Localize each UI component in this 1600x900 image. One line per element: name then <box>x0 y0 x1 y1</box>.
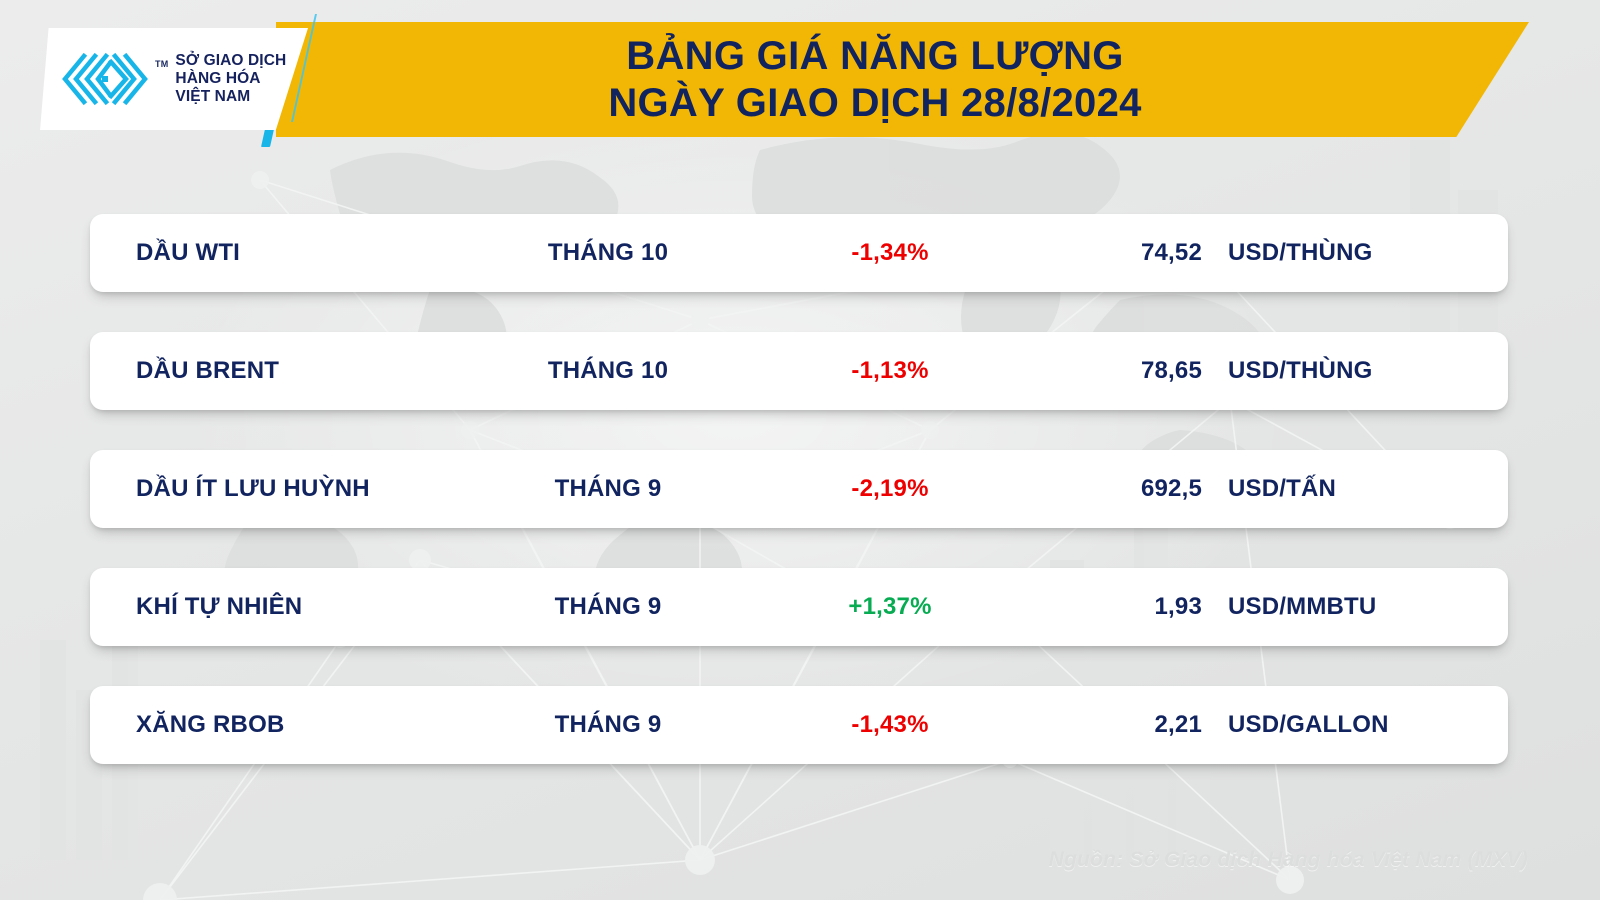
change-percent: -1,13% <box>790 357 990 385</box>
price-value: 692,5 <box>1020 475 1202 503</box>
contract-month: THÁNG 9 <box>498 475 718 503</box>
logo-wordmark: SỞ GIAO DỊCH HÀNG HÓA VIỆT NAM <box>175 52 286 106</box>
source-caption: Nguồn: Sở Giao dịch Hàng hóa Việt Nam (M… <box>1049 848 1528 872</box>
contract-month: THÁNG 9 <box>498 711 718 739</box>
page-title: BẢNG GIÁ NĂNG LƯỢNG NGÀY GIAO DỊCH 28/8/… <box>300 26 1450 134</box>
logo-line-3: VIỆT NAM <box>175 88 286 106</box>
logo-line-1: SỞ GIAO DỊCH <box>175 52 286 70</box>
commodity-name: KHÍ TỰ NHIÊN <box>136 593 302 621</box>
table-row[interactable]: DẦU BRENT THÁNG 10 -1,13% 78,65 USD/THÙN… <box>90 332 1508 410</box>
price-value: 1,93 <box>1020 593 1202 621</box>
price-table: DẦU WTI THÁNG 10 -1,34% 74,52 USD/THÙNG … <box>90 214 1510 764</box>
contract-month: THÁNG 10 <box>498 357 718 385</box>
price-value: 78,65 <box>1020 357 1202 385</box>
poster-canvas: TM SỞ GIAO DỊCH HÀNG HÓA VIỆT NAM BẢNG G… <box>0 0 1600 900</box>
table-row[interactable]: DẦU WTI THÁNG 10 -1,34% 74,52 USD/THÙNG <box>90 214 1508 292</box>
commodity-name: DẦU WTI <box>136 239 240 267</box>
logo-line-2: HÀNG HÓA <box>175 70 286 88</box>
price-unit: USD/GALLON <box>1228 711 1389 739</box>
commodity-name: DẦU BRENT <box>136 357 279 385</box>
change-percent: -1,43% <box>790 711 990 739</box>
price-value: 74,52 <box>1020 239 1202 267</box>
commodity-name: XĂNG RBOB <box>136 711 284 739</box>
commodity-name: DẦU ÍT LƯU HUỲNH <box>136 475 370 503</box>
contract-month: THÁNG 10 <box>498 239 718 267</box>
price-value: 2,21 <box>1020 711 1202 739</box>
change-percent: -1,34% <box>790 239 990 267</box>
header: TM SỞ GIAO DỊCH HÀNG HÓA VIỆT NAM BẢNG G… <box>0 0 1600 148</box>
price-unit: USD/THÙNG <box>1228 357 1372 385</box>
change-percent: -2,19% <box>790 475 990 503</box>
change-percent: +1,37% <box>790 593 990 621</box>
logo-plate[interactable]: TM SỞ GIAO DỊCH HÀNG HÓA VIỆT NAM <box>40 28 308 130</box>
price-unit: USD/TẤN <box>1228 475 1336 503</box>
table-row[interactable]: XĂNG RBOB THÁNG 9 -1,43% 2,21 USD/GALLON <box>90 686 1508 764</box>
title-line-1: BẢNG GIÁ NĂNG LƯỢNG <box>626 34 1123 79</box>
title-line-2: NGÀY GIAO DỊCH 28/8/2024 <box>608 81 1141 126</box>
price-unit: USD/THÙNG <box>1228 239 1372 267</box>
price-unit: USD/MMBTU <box>1228 593 1376 621</box>
table-row[interactable]: KHÍ TỰ NHIÊN THÁNG 9 +1,37% 1,93 USD/MMB… <box>90 568 1508 646</box>
contract-month: THÁNG 9 <box>498 593 718 621</box>
table-row[interactable]: DẦU ÍT LƯU HUỲNH THÁNG 9 -2,19% 692,5 US… <box>90 450 1508 528</box>
trademark-icon: TM <box>155 59 168 69</box>
mxv-chevron-logo-mark <box>62 51 148 107</box>
